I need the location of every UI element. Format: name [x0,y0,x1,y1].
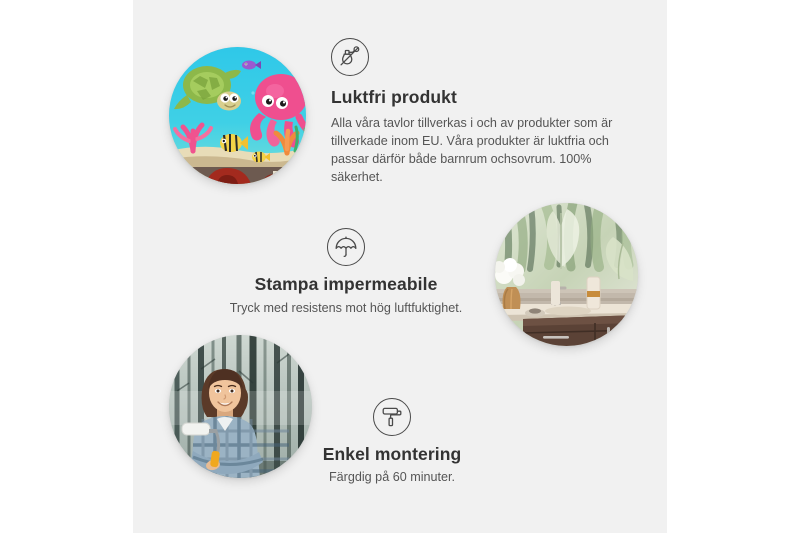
paint-roller-icon [373,398,411,436]
woman-with-paint-roller [169,335,312,478]
feature-odour-free: Luktfri produkt Alla våra tavlor tillver… [331,38,625,187]
product-feature-banner: Luktfri produkt Alla våra tavlor tillver… [0,0,800,533]
no-odour-icon [331,38,369,76]
feature-title: Stampa impermeabile [198,274,494,295]
feature-title: Enkel montering [292,444,492,465]
underwater-cartoon-mural [169,47,306,184]
bathroom-tropical-wallpaper [495,203,638,346]
feature-waterproof: Stampa impermeabile Tryck med resistens … [198,228,494,318]
feature-body: Tryck med resistens mot hög luftfuktighe… [198,300,494,318]
feature-body: Färgdig på 60 minuter. [292,469,492,487]
umbrella-icon [327,228,365,266]
feature-easy-assembly: Enkel montering Färgdig på 60 minuter. [292,398,492,487]
feature-body: Alla våra tavlor tillverkas i och av pro… [331,115,625,187]
feature-title: Luktfri produkt [331,87,625,108]
